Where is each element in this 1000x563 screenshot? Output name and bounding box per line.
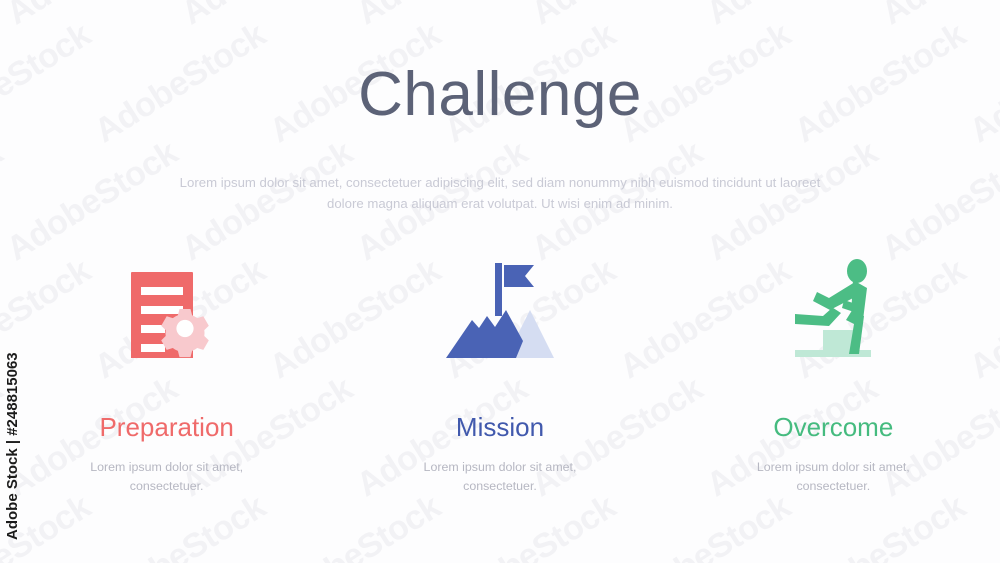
slide-canvas: AdobeStockAdobeStockAdobeStockAdobeStock… [0, 0, 1000, 563]
feature-column-mission: Mission Lorem ipsum dolor sit amet, cons… [333, 252, 666, 502]
adobe-stock-credit-label: Adobe Stock | #248815063 [4, 318, 21, 540]
feature-body-overcome: Lorem ipsum dolor sit amet, consectetuer… [731, 458, 936, 496]
feature-heading-overcome: Overcome [773, 414, 893, 440]
watermark-text: AdobeStock [875, 134, 1000, 270]
watermark-text: AdobeStock [350, 0, 535, 33]
feature-heading-preparation: Preparation [99, 414, 233, 440]
feature-column-preparation: Preparation Lorem ipsum dolor sit amet, … [0, 252, 333, 502]
watermark-text: AdobeStock [700, 0, 885, 33]
page-subtitle: Lorem ipsum dolor sit amet, consectetuer… [170, 172, 830, 215]
watermark-text: AdobeStock [525, 0, 710, 33]
watermark-text: AdobeStock [175, 0, 360, 33]
watermark-text: AdobeStock [875, 0, 1000, 33]
document-gear-icon [107, 252, 227, 358]
mountain-flag-icon [440, 252, 560, 358]
feature-columns: Preparation Lorem ipsum dolor sit amet, … [0, 252, 1000, 502]
feature-heading-mission: Mission [456, 414, 544, 440]
feature-body-preparation: Lorem ipsum dolor sit amet, consectetuer… [64, 458, 269, 496]
feature-body-mission: Lorem ipsum dolor sit amet, consectetuer… [397, 458, 602, 496]
runner-hurdle-icon [773, 252, 893, 358]
adobe-stock-credit: Adobe Stock | #248815063 [10, 96, 36, 318]
watermark-text: AdobeStock [0, 134, 10, 270]
page-title: Challenge [0, 64, 1000, 126]
watermark-text: AdobeStock [0, 0, 185, 33]
watermark-text: AdobeStock [0, 0, 10, 33]
feature-column-overcome: Overcome Lorem ipsum dolor sit amet, con… [667, 252, 1000, 502]
